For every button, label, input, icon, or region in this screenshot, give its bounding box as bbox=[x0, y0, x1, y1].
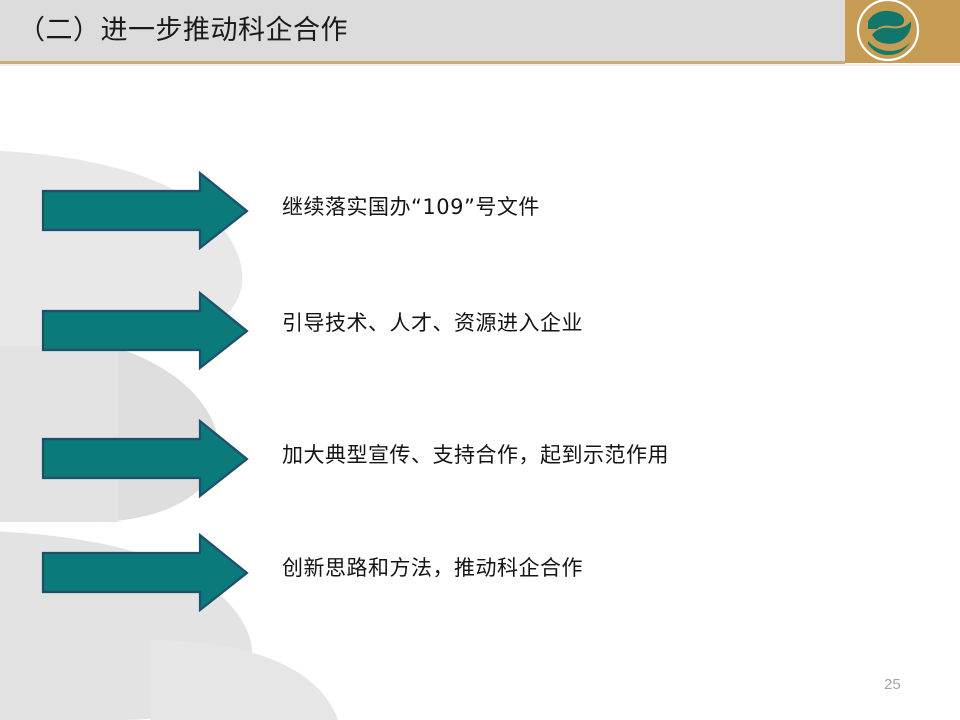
bullet-row-label: 加大典型宣传、支持合作，起到示范作用 bbox=[282, 440, 669, 470]
bullet-row-label: 继续落实国办“109”号文件 bbox=[282, 192, 540, 222]
arrow-bullet-2-icon bbox=[40, 290, 250, 370]
arrow-bullet-4-icon bbox=[40, 532, 250, 612]
bullet-row-label: 创新思路和方法，推动科企合作 bbox=[282, 553, 583, 583]
slide-canvas: （二）进一步推动科企合作 继续落实国办“109”号文件 引导技术、人才、资源进入… bbox=[0, 0, 960, 720]
arrow-bullet-1-icon bbox=[40, 170, 250, 250]
header-rule-shadow bbox=[0, 64, 960, 66]
bullet-row-label: 引导技术、人才、资源进入企业 bbox=[282, 308, 583, 338]
arrow-bullet-3-icon bbox=[40, 418, 250, 498]
page-number: 25 bbox=[884, 676, 901, 693]
page-title: （二）进一步推动科企合作 bbox=[18, 12, 348, 50]
company-leaf-logo-icon bbox=[855, 0, 921, 63]
